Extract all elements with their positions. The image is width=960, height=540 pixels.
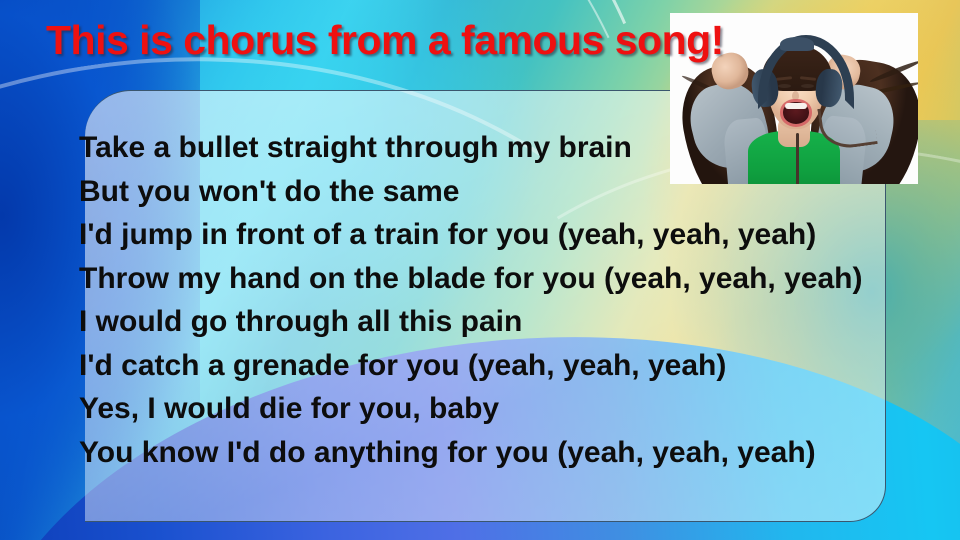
- lyric-line: I'd catch a grenade for you (yeah, yeah,…: [79, 344, 909, 388]
- lyrics-block: Take a bullet straight through my brain …: [79, 126, 909, 474]
- lyric-line: I'd jump in front of a train for you (ye…: [79, 213, 909, 257]
- lyric-line: I would go through all this pain: [79, 300, 909, 344]
- headphone-band-pad: [780, 37, 814, 51]
- slide-canvas: This is chorus from a famous song! Take …: [0, 0, 960, 540]
- lyric-line: But you won't do the same: [79, 170, 909, 214]
- lyric-line: Yes, I would die for you, baby: [79, 387, 909, 431]
- slide-title: This is chorus from a famous song!: [46, 16, 724, 64]
- lyric-line: You know I'd do anything for you (yeah, …: [79, 431, 909, 475]
- lyric-line: Take a bullet straight through my brain: [79, 126, 909, 170]
- lyric-line: Throw my hand on the blade for you (yeah…: [79, 257, 909, 301]
